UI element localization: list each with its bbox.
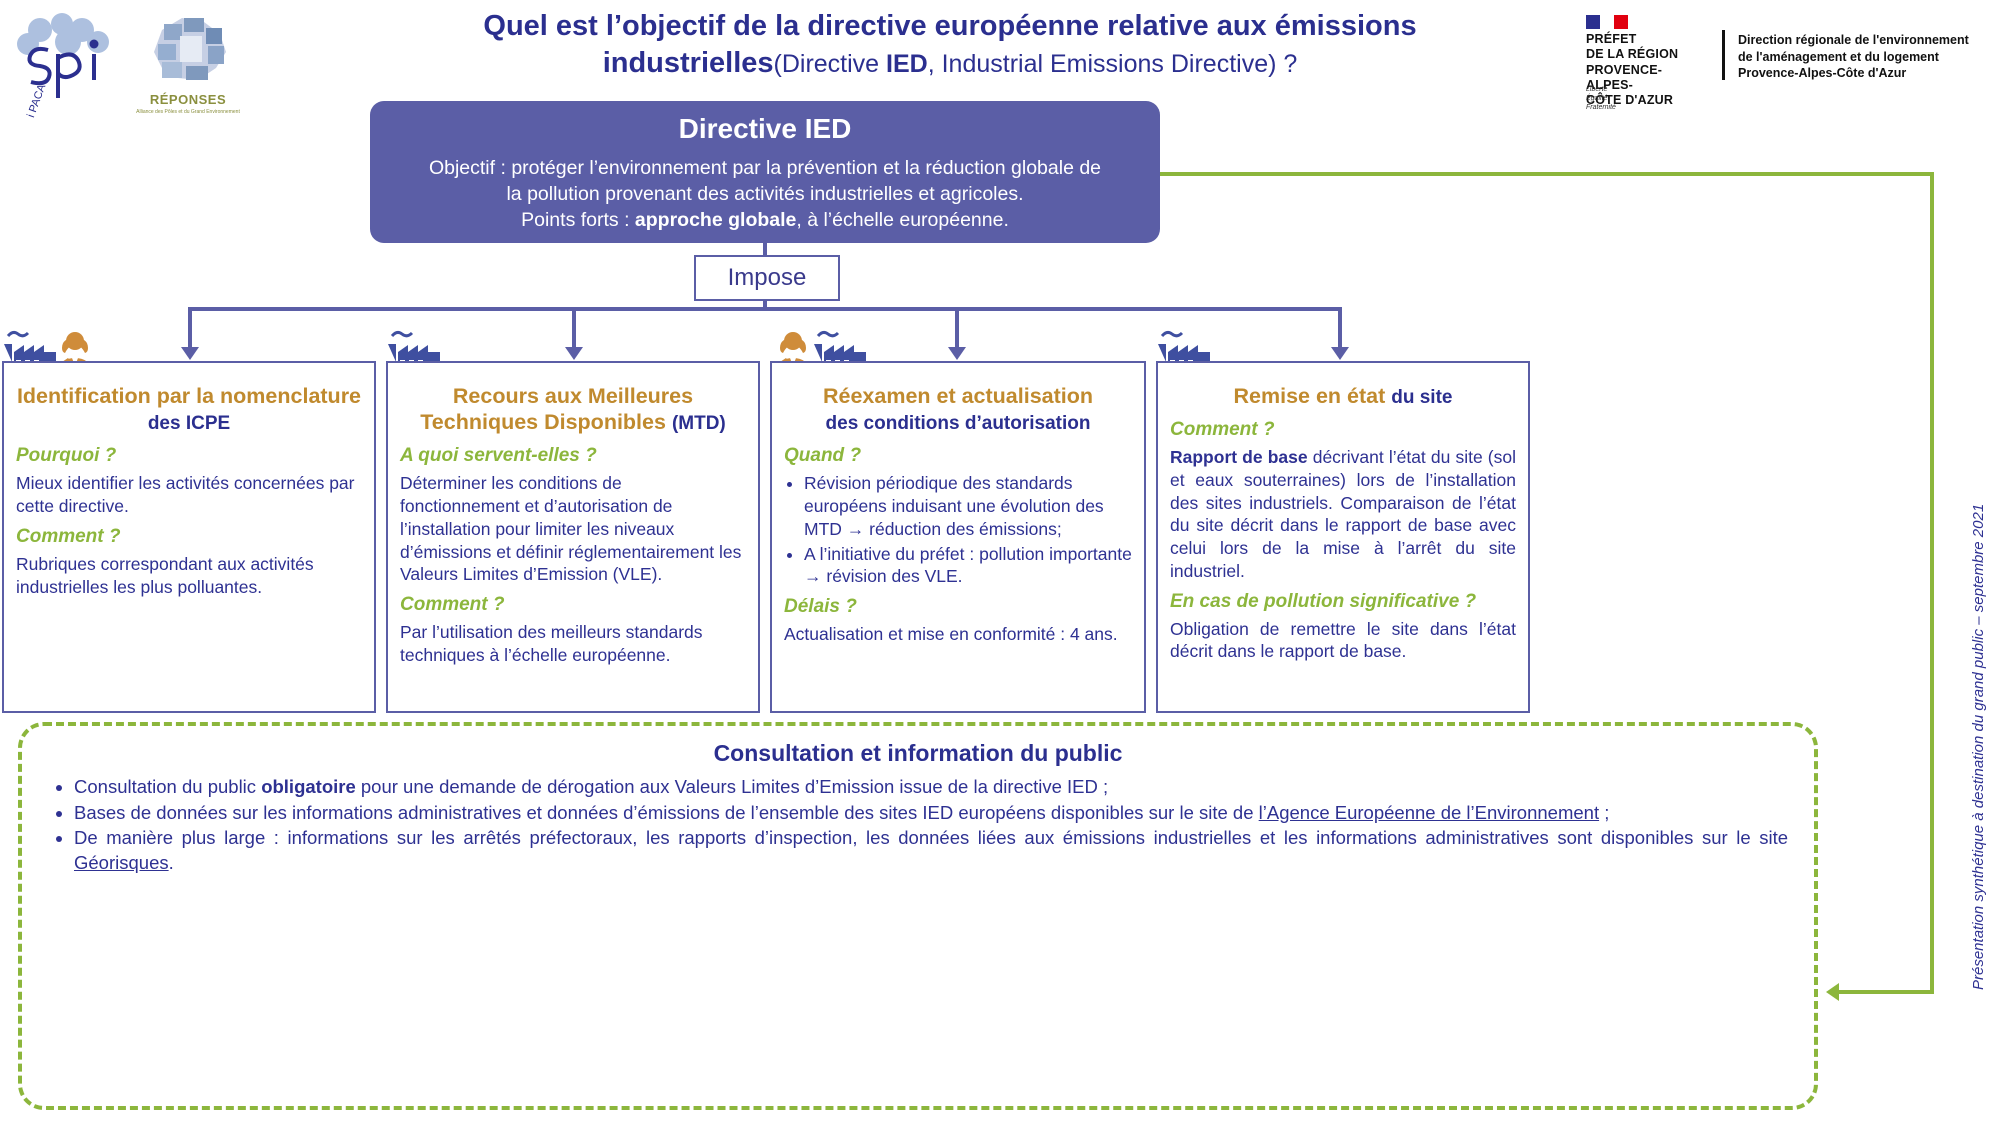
item-pre: Bases de données sur les informations ad… <box>74 802 1259 823</box>
card-answer-lead: Rapport de base <box>1170 447 1308 467</box>
feedback-line-bottom <box>1838 990 1934 994</box>
reponses-logo: RÉPONSES Alliance des Pôles et du Grand … <box>128 10 248 115</box>
item-post: pour une demande de dérogation aux Valeu… <box>356 776 1108 797</box>
directive-ied-banner: Directive IED Objectif : protéger l’envi… <box>370 101 1160 243</box>
spi-paca-logo: i PACA <box>10 8 120 118</box>
card-question: Comment ? <box>16 526 362 548</box>
card-title-main: Identification par la nomenclature <box>17 384 361 408</box>
card-title-main: Réexamen et actualisation <box>823 384 1093 408</box>
prefecture-logo-block: PRÉFET DE LA RÉGION PROVENCE- ALPES- CÔT… <box>1586 10 1986 90</box>
ied-line3-post: , à l’échelle européenne. <box>796 209 1009 231</box>
ied-line2: la pollution provenant des activités ind… <box>506 183 1023 205</box>
list-item: Consultation du public obligatoire pour … <box>74 775 1788 800</box>
reponses-label: RÉPONSES <box>128 92 248 107</box>
card-answer: Actualisation et mise en conformité : 4 … <box>784 623 1132 646</box>
card-answer-rest: décrivant l’état du site (sol et eaux so… <box>1170 447 1516 581</box>
arrow-to-column-1 <box>181 347 199 360</box>
dreal-name: Direction régionale de l'environnement d… <box>1738 32 1988 82</box>
card-question: En cas de pollution significative ? <box>1170 591 1516 613</box>
directive-ied-body: Objectif : protéger l’environnement par … <box>392 155 1138 233</box>
connector-branch-1 <box>188 307 192 349</box>
list-item: A l’initiative du préfet : pollution imp… <box>804 543 1132 589</box>
card-answer: Obligation de remettre le site dans l’ét… <box>1170 618 1516 664</box>
page-title-line2: industrielles <box>603 47 774 79</box>
card-answer: Rubriques correspondant aux activités in… <box>16 553 362 599</box>
ied-line3-pre: Points forts : <box>521 209 635 231</box>
connector-branch-3 <box>955 307 959 349</box>
item-bold: obligatoire <box>261 776 356 797</box>
card-title: Identification par la nomenclature des I… <box>16 383 362 435</box>
card-title-sub: des conditions d’autorisation <box>826 413 1091 434</box>
card-title-main: Remise en état <box>1234 384 1386 408</box>
reponses-sublabel: Alliance des Pôles et du Grand Environne… <box>128 109 248 115</box>
card-title-sub: (MTD) <box>672 413 726 434</box>
card-question: Quand ? <box>784 445 1132 467</box>
connector-horizontal-bus <box>188 307 1340 311</box>
feedback-line-top <box>1160 172 1934 176</box>
list-item: Révision périodique des standards europé… <box>804 472 1132 540</box>
item-link[interactable]: l’Agence Européenne de l’Environnement <box>1259 802 1599 823</box>
ied-line1: Objectif : protéger l’environnement par … <box>429 157 1101 179</box>
page-title: Quel est l’objectif de la directive euro… <box>330 8 1570 82</box>
consultation-list: Consultation du public obligatoire pour … <box>48 775 1788 875</box>
arrow-to-column-2 <box>565 347 583 360</box>
card-reexamen: Réexamen et actualisation des conditions… <box>770 361 1146 713</box>
card-question: Délais ? <box>784 596 1132 618</box>
item-pre: Consultation du public <box>74 776 261 797</box>
card-title: Réexamen et actualisation des conditions… <box>784 383 1132 435</box>
spi-paca-label: i PACA <box>25 82 48 118</box>
page-title-rest: , Industrial Emissions Directive <box>928 50 1268 78</box>
prefecture-motto: Liberté Égalité Fraternité <box>1586 86 1706 112</box>
list-item: Bases de données sur les informations ad… <box>74 801 1788 826</box>
card-question: Comment ? <box>400 594 746 616</box>
card-title-main: Recours aux Meilleures Techniques Dispon… <box>420 384 693 434</box>
card-title-sub: du site <box>1391 387 1452 408</box>
list-item: De manière plus large : informations sur… <box>74 826 1788 875</box>
card-remise-en-etat: Remise en état du site Comment ? Rapport… <box>1156 361 1530 713</box>
connector-branch-4 <box>1338 307 1342 349</box>
consultation-title: Consultation et information du public <box>48 740 1788 767</box>
item-pre: De manière plus large : informations sur… <box>74 827 1788 848</box>
connector-branch-2 <box>572 307 576 349</box>
item-post: . <box>169 852 174 873</box>
card-title-sub: des ICPE <box>148 413 230 434</box>
card-question: A quoi servent-elles ? <box>400 445 746 467</box>
card-bullet-list: Révision périodique des standards europé… <box>784 472 1132 588</box>
item-link[interactable]: Géorisques <box>74 852 169 873</box>
page-title-close: ) ? <box>1268 50 1297 78</box>
card-answer: Rapport de base décrivant l’état du site… <box>1170 446 1516 583</box>
footer-vertical-note: Présentation synthétique à destination d… <box>1970 430 1998 990</box>
impose-box: Impose <box>694 255 840 301</box>
arrow-to-column-4 <box>1331 347 1349 360</box>
card-answer: Déterminer les conditions de fonctionnem… <box>400 472 746 586</box>
feedback-line-right <box>1930 172 1934 994</box>
page-title-line1: Quel est l’objectif de la directive euro… <box>483 10 1416 42</box>
card-title: Remise en état du site <box>1170 383 1516 409</box>
card-answer: Par l’utilisation des meilleurs standard… <box>400 621 746 667</box>
logo-divider <box>1722 30 1725 80</box>
card-question: Pourquoi ? <box>16 445 362 467</box>
card-identification: Identification par la nomenclature des I… <box>2 361 376 713</box>
card-answer: Mieux identifier les activités concernée… <box>16 472 362 518</box>
card-title: Recours aux Meilleures Techniques Dispon… <box>400 383 746 435</box>
arrow-to-column-3 <box>948 347 966 360</box>
page-title-ied: IED <box>886 50 928 78</box>
consultation-box: Consultation et information du public Co… <box>18 722 1818 1110</box>
card-question: Comment ? <box>1170 419 1516 441</box>
french-flag-icon <box>1586 15 1628 29</box>
item-post: ; <box>1599 802 1609 823</box>
page-title-paren-open: (Directive <box>774 50 887 78</box>
feedback-arrow <box>1826 983 1839 1001</box>
ied-line3-bold: approche globale <box>635 209 796 231</box>
directive-ied-title: Directive IED <box>392 113 1138 145</box>
card-mtd: Recours aux Meilleures Techniques Dispon… <box>386 361 760 713</box>
